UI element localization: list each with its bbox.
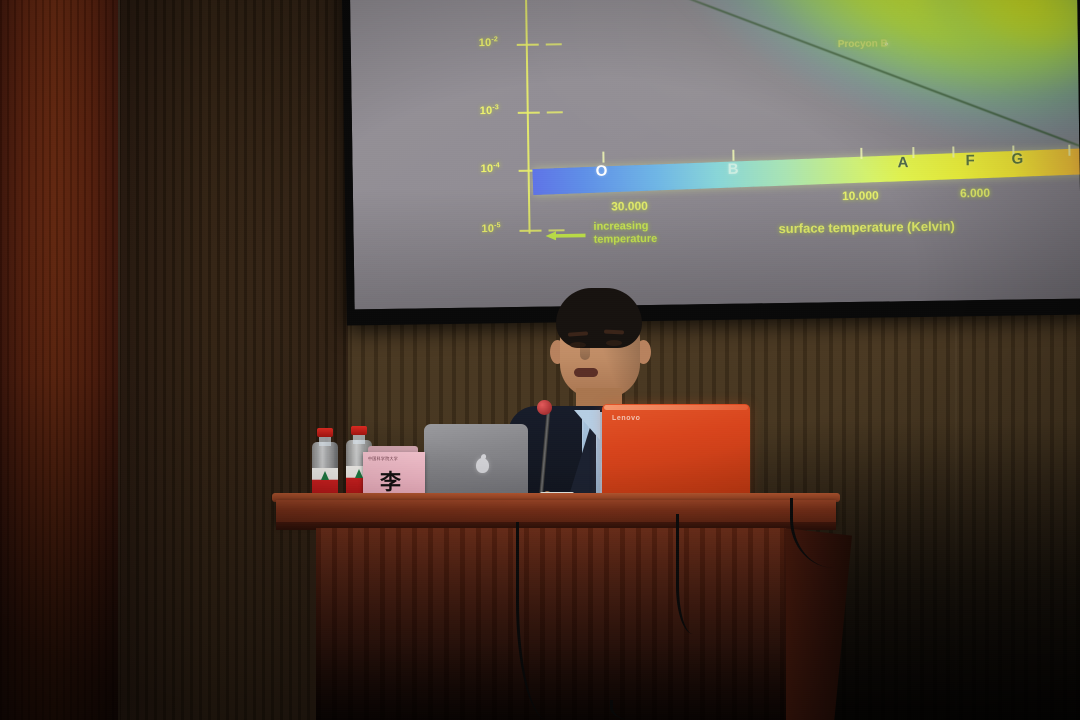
spectral-class-a: A <box>897 154 908 171</box>
left-wall-shading <box>0 0 120 720</box>
y-tick-label: 10-4 <box>481 162 500 175</box>
name-card-org-text: 中国科学院大学 <box>368 456 398 462</box>
podium-top-surface <box>276 500 836 524</box>
spectral-class-g: G <box>1011 150 1023 167</box>
y-axis-tick <box>517 44 539 46</box>
x-tick-label-10000: 10.000 <box>842 189 879 204</box>
projection-screen-surface: 10-2 10-3 10-4 10-5 Sirius B Procyon B B… <box>349 0 1080 309</box>
mouth <box>574 368 598 377</box>
projection-screen-frame: 10-2 10-3 10-4 10-5 Sirius B Procyon B B… <box>341 0 1080 325</box>
spectral-class-o: O <box>596 163 608 180</box>
x-tick-label-6000: 6.000 <box>960 186 990 200</box>
colorbar-tick <box>860 148 862 159</box>
lenovo-lid: Lenovo <box>602 404 750 500</box>
nose <box>580 340 590 360</box>
lecture-photo: 10-2 10-3 10-4 10-5 Sirius B Procyon B B… <box>0 0 1080 720</box>
increasing-temperature-note: increasing temperature <box>593 220 657 247</box>
hair <box>556 288 642 348</box>
spectral-class-f: F <box>965 152 974 169</box>
apple-logo-icon <box>476 458 489 473</box>
x-axis-title: surface temperature (Kelvin) <box>778 218 954 236</box>
y-axis-tick-dash <box>546 43 562 45</box>
star-label-procyon-b: Procyon B <box>838 38 888 50</box>
colorbar-tick <box>912 147 914 158</box>
microphone-head-icon <box>537 400 552 415</box>
x-tick-label-30000: 30.000 <box>611 199 648 214</box>
cable <box>676 514 719 634</box>
y-tick-label: 10-3 <box>480 104 499 117</box>
bottle-cap <box>351 426 367 435</box>
colorbar-tick <box>952 146 954 157</box>
eye <box>606 340 622 346</box>
bottle-cap <box>317 428 333 437</box>
slide-plot: 10-2 10-3 10-4 10-5 Sirius B Procyon B B… <box>349 0 1080 309</box>
podium <box>276 500 836 720</box>
y-axis-line <box>524 0 530 234</box>
colorbar-tick <box>732 150 734 161</box>
y-axis-tick <box>518 112 540 114</box>
y-axis-tick-dash <box>549 229 565 231</box>
y-tick-label: 10-2 <box>479 36 498 49</box>
spectral-class-b: B <box>728 161 739 178</box>
y-axis-tick <box>520 230 542 232</box>
wall-seam <box>118 0 120 720</box>
increasing-temperature-arrow-icon <box>546 231 586 241</box>
lenovo-lid-highlight <box>604 405 748 410</box>
colorbar-tick <box>602 152 604 163</box>
y-axis-tick-dash <box>547 111 563 113</box>
lenovo-logo-icon: Lenovo <box>612 415 641 422</box>
y-tick-label: 10-5 <box>481 222 500 235</box>
macbook-lid <box>424 424 528 498</box>
colorbar-tick <box>1068 145 1070 156</box>
spectral-class-colorbar <box>532 148 1080 195</box>
